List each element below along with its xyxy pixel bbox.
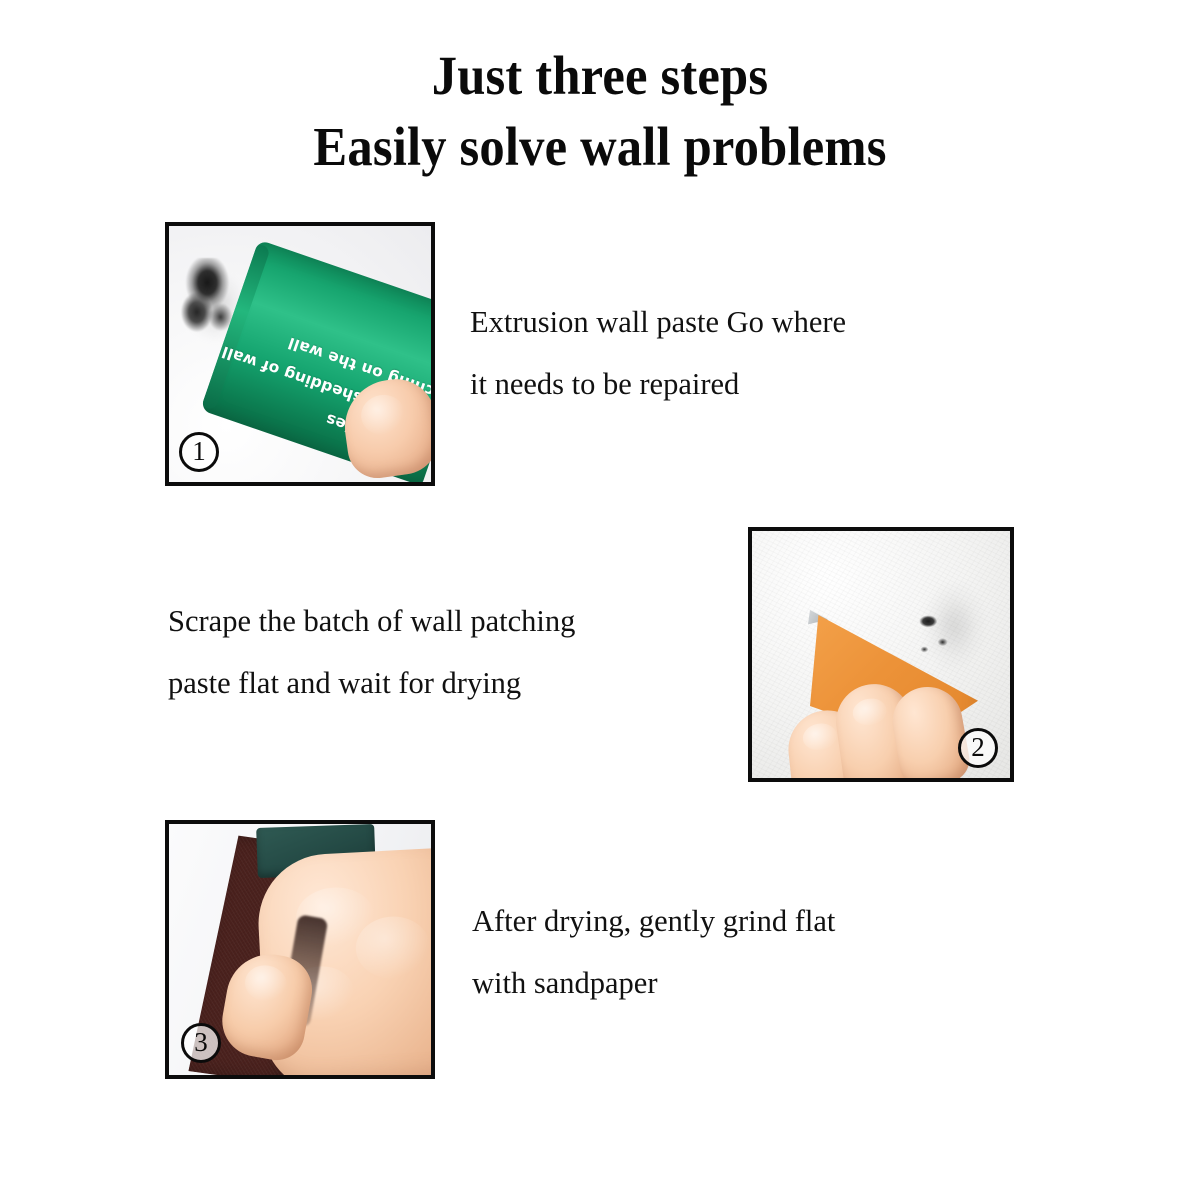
step-2-photo-frame: 2: [748, 527, 1014, 782]
step-1-caption: Extrusion wall paste Go where it needs t…: [470, 291, 846, 415]
green-wall-paste-tube-photo: Wall turtles age and shedding of wall nc…: [169, 226, 431, 482]
step-3-caption-line-2: with sandpaper: [472, 952, 835, 1014]
page-title-line-1: Just three steps: [48, 44, 1152, 109]
step-number-badge-1: 1: [179, 432, 219, 472]
orange-scraper-photo: 2: [752, 531, 1010, 778]
step-3-caption-line-1: After drying, gently grind flat: [472, 890, 835, 952]
step-1-photo-frame: Wall turtles age and shedding of wall nc…: [165, 222, 435, 486]
wall-chip: [910, 613, 958, 665]
step-1-caption-line-1: Extrusion wall paste Go where: [470, 291, 846, 353]
sandpaper-sanding-photo: 3: [169, 824, 431, 1075]
step-3-caption: After drying, gently grind flat with san…: [472, 890, 835, 1014]
page-title: Just three steps Easily solve wall probl…: [0, 44, 1200, 180]
step-2-caption-line-2: paste flat and wait for drying: [168, 652, 575, 714]
step-2-caption-line-1: Scrape the batch of wall patching: [168, 590, 575, 652]
step-3-photo-frame: 3: [165, 820, 435, 1079]
page-title-line-2: Easily solve wall problems: [48, 115, 1152, 180]
step-2-caption: Scrape the batch of wall patching paste …: [168, 590, 575, 714]
step-number-badge-2: 2: [958, 728, 998, 768]
step-1-caption-line-2: it needs to be repaired: [470, 353, 846, 415]
step-number-badge-3: 3: [181, 1023, 221, 1063]
